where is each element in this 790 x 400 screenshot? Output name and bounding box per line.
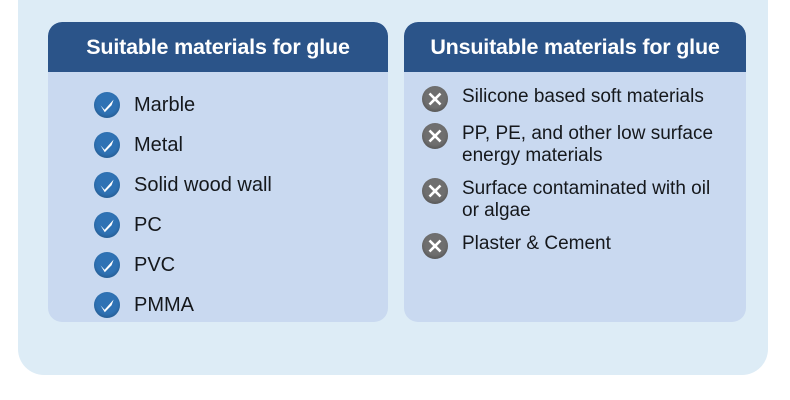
list-item-label: PMMA [134,294,194,316]
cross-circle-icon [422,233,448,259]
check-circle-icon [94,212,120,238]
comparison-diagram: Suitable materials for glue Marble M [0,0,790,400]
list-item-label: Silicone based soft materials [462,85,704,108]
unsuitable-card-header: Unsuitable materials for glue [404,22,746,72]
list-item: Metal [48,125,388,165]
list-item: Marble [48,85,388,125]
cross-circle-icon [422,86,448,112]
cross-circle-icon [422,178,448,204]
cross-circle-icon [422,123,448,149]
cards-container: Suitable materials for glue Marble M [0,0,790,400]
list-item-label: Plaster & Cement [462,232,611,255]
unsuitable-card-title: Unsuitable materials for glue [430,35,719,60]
list-item: Solid wood wall [48,165,388,205]
check-circle-icon [94,292,120,318]
unsuitable-materials-list: Silicone based soft materials PP, PE, an… [404,85,746,259]
list-item-label: Metal [134,134,183,156]
list-item: Silicone based soft materials [404,85,746,112]
list-item: Plaster & Cement [404,232,746,259]
list-item-label: Marble [134,94,195,116]
check-circle-icon [94,172,120,198]
check-circle-icon [94,252,120,278]
suitable-card-body: Marble Metal Solid wood wall [48,72,388,322]
list-item: PMMA [48,285,388,322]
list-item-label: Solid wood wall [134,174,272,196]
list-item-label: PC [134,214,162,236]
list-item: Surface contaminated with oil or algae [404,177,746,222]
suitable-card-header: Suitable materials for glue [48,22,388,72]
unsuitable-materials-card: Unsuitable materials for glue Silicone b… [404,22,746,322]
check-circle-icon [94,92,120,118]
list-item-label: Surface contaminated with oil or algae [462,177,722,222]
list-item-label: PVC [134,254,175,276]
suitable-materials-list: Marble Metal Solid wood wall [48,85,388,322]
suitable-card-title: Suitable materials for glue [86,35,349,60]
list-item-label: PP, PE, and other low surface energy mat… [462,122,722,167]
list-item: PP, PE, and other low surface energy mat… [404,122,746,167]
unsuitable-card-body: Silicone based soft materials PP, PE, an… [404,72,746,259]
list-item: PVC [48,245,388,285]
suitable-materials-card: Suitable materials for glue Marble M [48,22,388,322]
check-circle-icon [94,132,120,158]
list-item: PC [48,205,388,245]
